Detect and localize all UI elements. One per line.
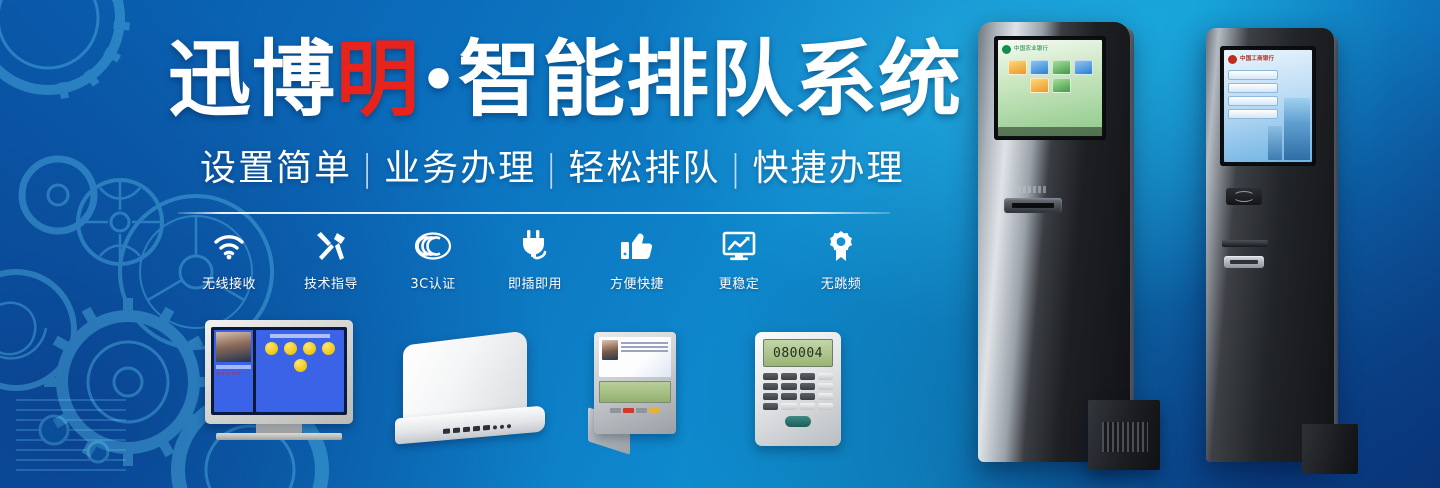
staff-panel: ★★★★★ (214, 330, 253, 412)
call-next-button (785, 416, 811, 427)
subtitle-item-3: 快捷办理 (752, 148, 904, 189)
bank-logo-icon (1002, 45, 1011, 54)
title-part1: 迅博 (168, 31, 336, 128)
service-tile (1030, 78, 1049, 93)
title-part2: 智能排队系统 (458, 31, 962, 128)
info-line (621, 346, 668, 348)
key (781, 383, 796, 390)
service-tile (1008, 60, 1027, 75)
kiosk-emblem (1018, 186, 1048, 193)
feature-item-tech-support: 技术指导 (280, 226, 382, 292)
monitor-frame: ★★★★★ (205, 320, 353, 424)
subtitle-separator: | (536, 148, 568, 189)
kiosk-screen-ui: 中国工商银行 (1224, 50, 1312, 162)
port (443, 428, 450, 434)
bank-name: 中国工商银行 (1240, 56, 1274, 62)
feature-item-ccc-cert: 3C认证 (382, 226, 484, 292)
subtitle-item-2: 轻松排队 (568, 148, 720, 189)
key (818, 393, 833, 400)
key (818, 383, 833, 390)
key (800, 383, 815, 390)
service-tile (1052, 78, 1071, 93)
monitor-base (216, 433, 342, 440)
queue-kiosk-icbc: 中国工商银行 (1196, 28, 1368, 488)
kiosk-touchscreen: 中国工商银行 (1220, 46, 1316, 166)
wifi-icon (212, 226, 246, 266)
button (636, 408, 647, 413)
subtitle-item-0: 设置简单 (200, 148, 352, 189)
keypad-keys (763, 373, 833, 410)
staff-info-lines (621, 340, 668, 374)
medal-icon (828, 226, 854, 266)
kiosk-touchscreen: 中国农业银行 (994, 36, 1106, 140)
horizontal-divider (178, 212, 890, 214)
subtitle-separator: | (720, 148, 752, 189)
monitor-screen: ★★★★★ (211, 327, 347, 415)
feature-item-plug-and-play: 即插即用 (484, 226, 586, 292)
button (610, 408, 621, 413)
info-line (621, 342, 668, 344)
feature-item-convenient: 方便快捷 (586, 226, 688, 292)
port (453, 427, 460, 433)
evaluator-lcd (599, 381, 671, 403)
staff-photo (216, 332, 251, 362)
port (483, 425, 490, 431)
smiley-face-icon (284, 342, 297, 355)
power-jack (507, 424, 511, 428)
evaluator-body (594, 332, 676, 434)
thumbsup-icon (620, 226, 654, 266)
keypad-lcd: 080004 (763, 339, 833, 367)
menu-item (1228, 83, 1278, 93)
subtitle-separator: | (352, 148, 384, 189)
vent-grille (1102, 422, 1148, 452)
port (473, 426, 480, 432)
port (463, 427, 470, 433)
indicator-led (493, 425, 497, 429)
tools-icon (315, 226, 347, 266)
staff-photo (602, 340, 618, 360)
smiley-face-icon (294, 359, 307, 372)
subtitle: 设置简单|业务办理|轻松排队|快捷办理 (200, 146, 900, 191)
menu-item (1228, 70, 1278, 80)
card-reader (1226, 188, 1262, 205)
kiosk-foot-box (1302, 424, 1358, 474)
subtitle-item-1: 业务办理 (384, 148, 536, 189)
smiley-face-icon (303, 342, 316, 355)
monitor-stand (256, 424, 302, 433)
bank-brand: 中国农业银行 (1002, 45, 1098, 54)
smiley-face-icon (265, 342, 278, 355)
bank-brand: 中国工商银行 (1228, 55, 1308, 64)
feature-label: 更稳定 (719, 273, 760, 292)
key (800, 403, 815, 410)
service-tile (1030, 60, 1049, 75)
ticket-dispenser-slot (1222, 240, 1268, 247)
staff-name-line (216, 365, 251, 369)
staff-id-card (599, 337, 671, 377)
product-call-keypad: 080004 (755, 332, 841, 446)
key (763, 383, 778, 390)
feature-label: 无线接收 (202, 273, 256, 292)
kiosk-badge-plate (1224, 256, 1264, 268)
key (781, 403, 796, 410)
title-dot: • (420, 46, 458, 114)
rating-question (270, 334, 330, 338)
ticket-dispenser-slot (1004, 198, 1062, 213)
monitor-chart-icon (722, 226, 756, 266)
smiley-face-icon (322, 342, 335, 355)
key (800, 393, 815, 400)
feature-item-more-stable: 更稳定 (688, 226, 790, 292)
queue-number-display: 080004 (773, 346, 823, 361)
product-wireless-router (395, 338, 545, 444)
kiosk-vent-box (1088, 400, 1160, 470)
feature-label: 即插即用 (508, 273, 562, 292)
feature-list: 无线接收 技术指导 3C认证 (178, 226, 898, 292)
feature-label: 方便快捷 (610, 273, 664, 292)
feature-label: 3C认证 (410, 273, 455, 292)
menu-item (1228, 109, 1278, 119)
bank-logo-icon (1228, 55, 1237, 64)
service-tiles (1002, 60, 1098, 93)
kiosk-screen-ui: 中国农业银行 (998, 40, 1102, 136)
building-graphic (1284, 98, 1310, 160)
key (800, 373, 815, 380)
feature-label: 技术指导 (304, 273, 358, 292)
button-red (623, 408, 634, 413)
indicator-led (500, 424, 504, 428)
key (763, 373, 778, 380)
product-desktop-evaluator (588, 332, 684, 448)
queue-kiosk-agricultural-bank: 中国农业银行 (960, 22, 1170, 488)
plug-icon (520, 226, 550, 266)
title-highlight: 明 (336, 31, 420, 128)
keypad-body: 080004 (755, 332, 841, 446)
feature-item-wireless: 无线接收 (178, 226, 280, 292)
service-menu (1228, 70, 1278, 119)
screen-footer-bar (998, 127, 1102, 136)
ccc-icon (414, 226, 452, 266)
banner-content: 迅博明•智能排队系统 设置简单|业务办理|轻松排队|快捷办理 无线接收 (0, 0, 960, 488)
rating-faces (258, 342, 342, 372)
service-tile (1052, 60, 1071, 75)
key (763, 403, 778, 410)
rfid-icon (1233, 191, 1255, 202)
feature-label: 无跳频 (821, 273, 862, 292)
promo-banner: 迅博明•智能排队系统 设置简单|业务办理|轻松排队|快捷办理 无线接收 (0, 0, 1440, 488)
key (781, 393, 796, 400)
menu-item (1228, 96, 1278, 106)
info-line (621, 350, 668, 352)
product-evaluation-monitor: ★★★★★ (205, 320, 353, 440)
key (763, 393, 778, 400)
key (781, 373, 796, 380)
rating-stars: ★★★★★ (216, 372, 251, 377)
key (818, 373, 833, 380)
feature-item-no-freq-hop: 无跳频 (790, 226, 892, 292)
bank-name: 中国农业银行 (1014, 46, 1048, 52)
page-title: 迅博明•智能排队系统 (168, 38, 908, 121)
service-tile (1074, 60, 1093, 75)
rating-panel (256, 330, 344, 412)
button-yellow (649, 408, 660, 413)
product-showcase: ★★★★★ (190, 318, 910, 458)
key (818, 403, 833, 410)
evaluator-buttons (599, 408, 671, 413)
